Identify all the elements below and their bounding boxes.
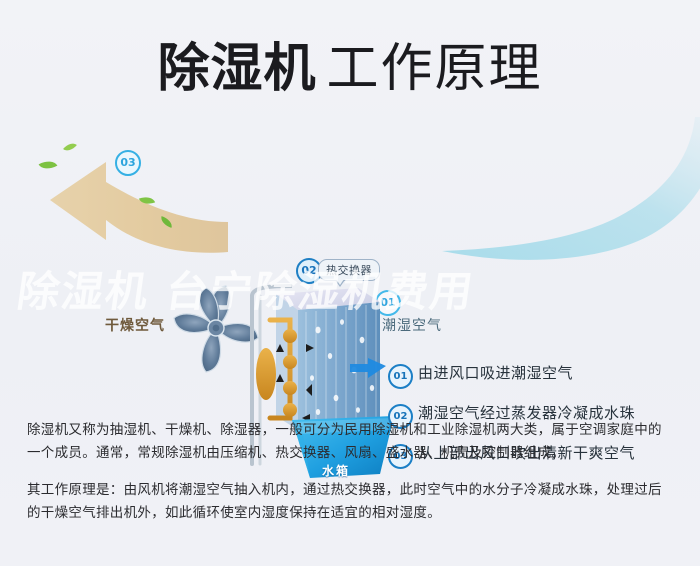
paragraph-1: 除湿机又称为抽湿机、干燥机、除湿器，一般可分为民用除湿机和工业除湿机两大类，属于… <box>27 418 675 464</box>
description-block: 除湿机又称为抽湿机、干燥机、除湿器，一般可分为民用除湿机和工业除湿机两大类，属于… <box>27 418 675 538</box>
page-title: 除湿机工作原理 <box>0 26 700 101</box>
humid-air-swoosh-icon <box>390 115 700 265</box>
title-secondary: 工作原理 <box>327 40 543 98</box>
diagram-badge-03: 03 <box>115 150 141 176</box>
diagram-stage: 03 干燥空气 01 潮湿空气 02 热交换器 <box>0 110 700 405</box>
step-text: 由进风口吸进潮湿空气 <box>418 362 573 383</box>
title-primary: 除湿机 <box>157 39 316 99</box>
step-item: 01 由进风口吸进潮湿空气 <box>388 362 688 402</box>
paragraph-2: 其工作原理是：由风机将潮湿空气抽入机内，通过热交换器，此时空气中的水分子冷凝成水… <box>27 478 675 524</box>
infographic-page: 除湿机工作原理 <box>0 0 700 566</box>
humid-air-label: 潮湿空气 <box>382 315 442 335</box>
step-badge: 01 <box>388 364 413 389</box>
dry-air-label: 干燥空气 <box>105 315 165 335</box>
heat-exchanger-label: 热交换器 <box>326 265 372 277</box>
